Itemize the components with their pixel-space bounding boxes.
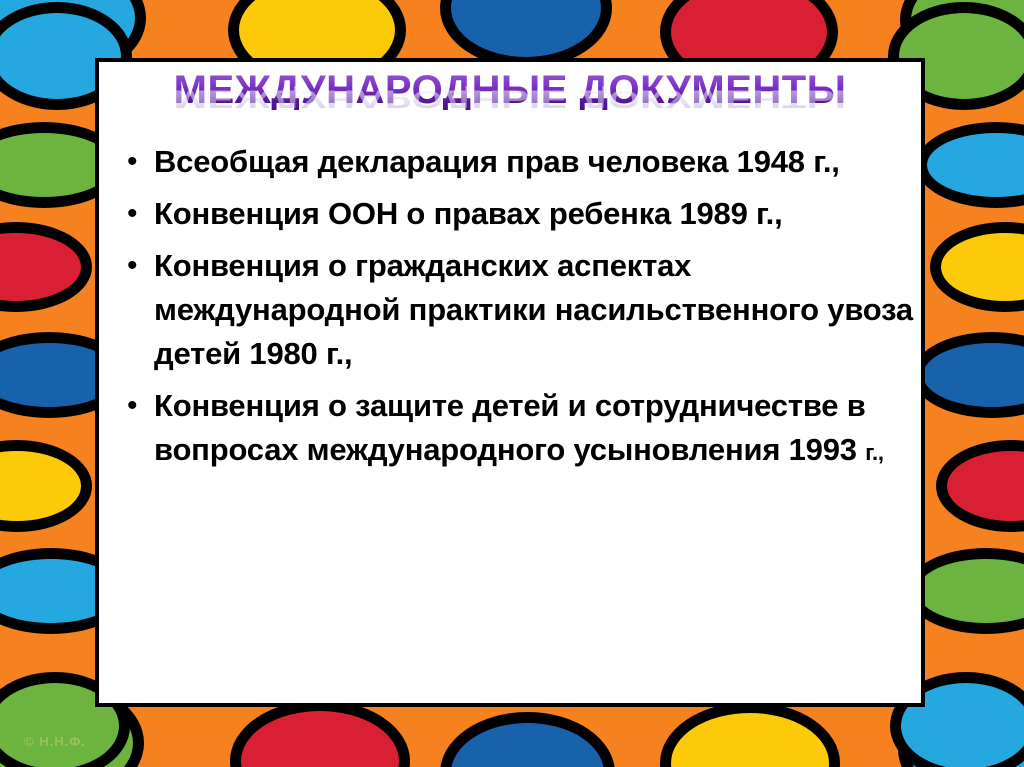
page-title: Международные документы — [174, 70, 847, 110]
bullet-dot-icon: • — [121, 244, 154, 288]
border-blob-left-2 — [0, 222, 92, 312]
documents-list: •Всеобщая декларация прав человека 1948 … — [121, 140, 913, 483]
bullet-dot-icon: • — [121, 140, 154, 184]
list-item: • Конвенция о защите детей и сотрудничес… — [121, 384, 913, 475]
border-blob-right-2 — [930, 222, 1024, 312]
list-item: • Конвенция ООН о правах ребенка 1989 г.… — [121, 192, 913, 236]
border-blob-right-3 — [912, 332, 1024, 418]
bullet-dot-icon: • — [121, 384, 154, 428]
border-blob-bottom-3 — [660, 702, 840, 767]
list-item-label-tail: г., — [865, 440, 884, 465]
copyright-watermark: © Н.Н.Ф. — [24, 734, 86, 749]
content-card: Международные документы Международные до… — [95, 58, 925, 707]
bullet-dot-icon: • — [121, 192, 154, 236]
border-blob-right-1 — [916, 122, 1024, 208]
border-blob-left-4 — [0, 440, 92, 532]
list-item: •Всеобщая декларация прав человека 1948 … — [121, 140, 913, 184]
list-item-label: Всеобщая декларация прав человека 1948 г… — [154, 140, 913, 184]
border-blob-right-4 — [936, 440, 1024, 532]
border-blob-bottom-1 — [230, 700, 410, 767]
page-title-reflection: Международные документы — [99, 86, 921, 111]
border-blob-bottom-2 — [440, 712, 615, 767]
slide-canvas: Международные документы Международные до… — [0, 0, 1024, 767]
title-block: Международные документы Международные до… — [99, 70, 921, 151]
list-item: • Конвенция о гражданских аспектах между… — [121, 244, 913, 376]
list-item-label: Конвенция ООН о правах ребенка 1989 г., — [154, 192, 913, 236]
list-item-label: Конвенция о гражданских аспектах междуна… — [154, 244, 913, 376]
list-item-label: Конвенция о защите детей и сотрудничеств… — [154, 384, 913, 475]
